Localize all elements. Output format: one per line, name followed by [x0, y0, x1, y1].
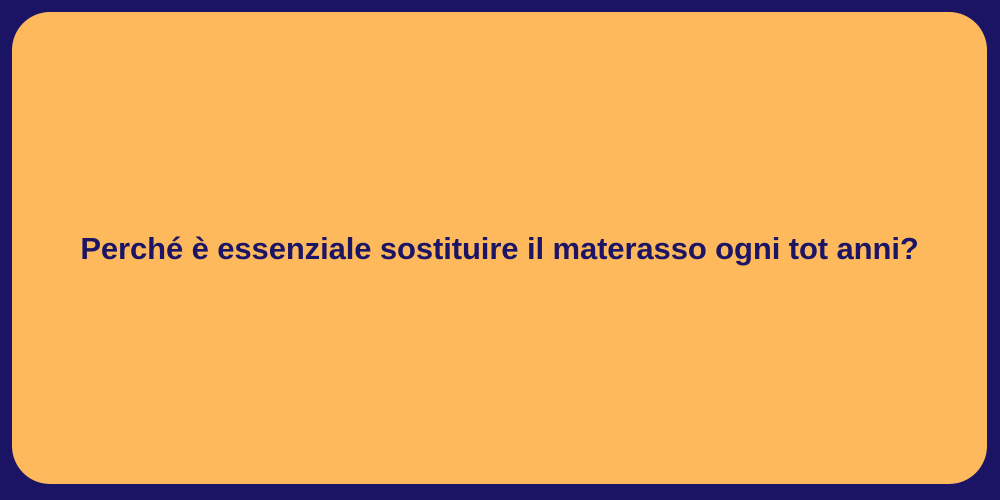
- banner-panel: Perché è essenziale sostituire il matera…: [12, 12, 987, 484]
- page-title: Perché è essenziale sostituire il matera…: [12, 230, 987, 269]
- banner-root: Perché è essenziale sostituire il matera…: [0, 0, 1000, 500]
